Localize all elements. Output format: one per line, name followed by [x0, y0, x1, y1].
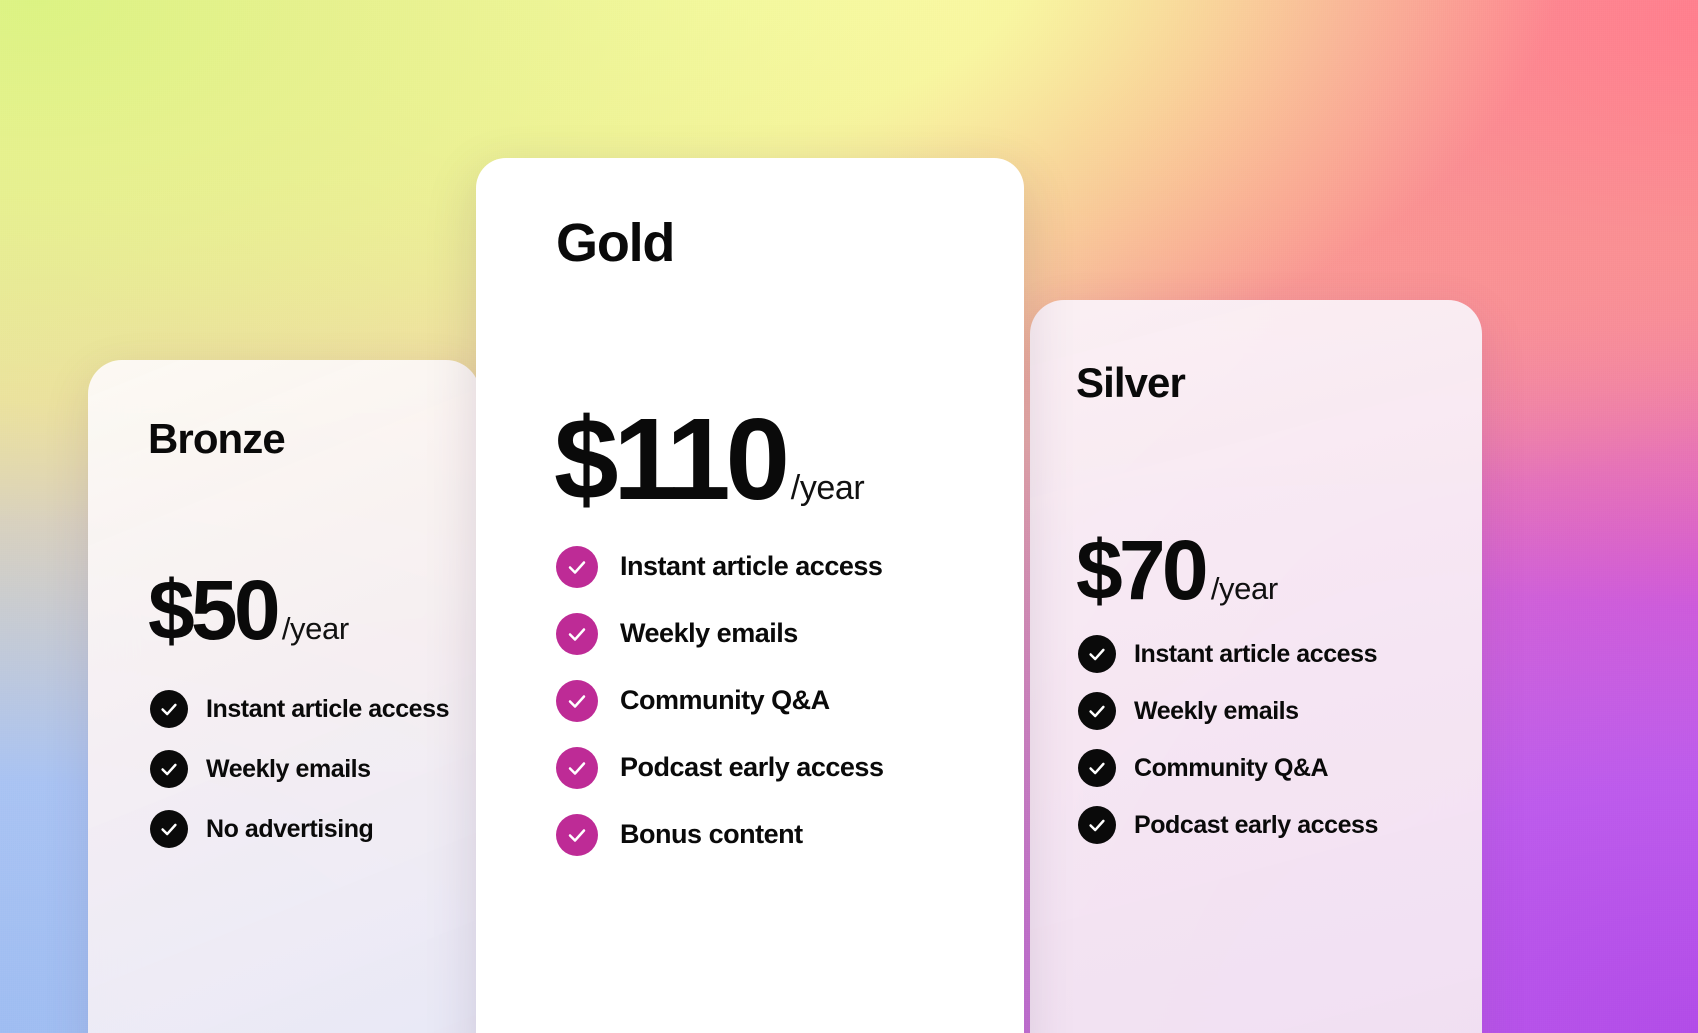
feature-list-gold: Instant article access Weekly emails Com…: [556, 546, 883, 881]
check-circle-icon: [1078, 692, 1116, 730]
feature-item: Bonus content: [556, 814, 883, 856]
check-circle-icon: [556, 613, 598, 655]
check-circle-icon: [556, 680, 598, 722]
check-circle-icon: [556, 814, 598, 856]
check-circle-icon: [556, 747, 598, 789]
feature-label: Weekly emails: [620, 618, 798, 649]
price-row-silver: $70 /year: [1076, 532, 1278, 609]
price-period-gold: /year: [791, 469, 865, 508]
feature-list-bronze: Instant article access Weekly emails No …: [150, 690, 449, 870]
feature-label: Instant article access: [206, 695, 449, 724]
pricing-card-silver[interactable]: Silver $70 /year Instant article access …: [1030, 300, 1482, 1033]
feature-item: Instant article access: [556, 546, 883, 588]
feature-item: Weekly emails: [150, 750, 449, 788]
check-circle-icon: [1078, 635, 1116, 673]
price-period-silver: /year: [1211, 571, 1278, 607]
price-row-gold: $110 /year: [554, 406, 864, 513]
price-amount-silver: $70: [1076, 532, 1205, 609]
feature-list-silver: Instant article access Weekly emails Com…: [1078, 635, 1378, 863]
plan-name-bronze: Bronze: [148, 418, 285, 460]
pricing-page: Bronze $50 /year Instant article access …: [0, 0, 1698, 1033]
feature-label: Weekly emails: [1134, 697, 1299, 726]
feature-label: Instant article access: [1134, 640, 1377, 669]
price-row-bronze: $50 /year: [148, 572, 349, 649]
feature-label: No advertising: [206, 815, 373, 844]
feature-label: Bonus content: [620, 819, 803, 850]
feature-label: Podcast early access: [1134, 811, 1378, 840]
feature-label: Podcast early access: [620, 752, 883, 783]
check-circle-icon: [1078, 806, 1116, 844]
plan-name-silver: Silver: [1076, 362, 1185, 404]
pricing-card-bronze[interactable]: Bronze $50 /year Instant article access …: [88, 360, 480, 1033]
check-circle-icon: [1078, 749, 1116, 787]
feature-item: No advertising: [150, 810, 449, 848]
check-circle-icon: [556, 546, 598, 588]
price-period-bronze: /year: [282, 611, 349, 647]
feature-label: Community Q&A: [620, 685, 830, 716]
feature-label: Weekly emails: [206, 755, 371, 784]
check-circle-icon: [150, 690, 188, 728]
check-circle-icon: [150, 810, 188, 848]
price-amount-bronze: $50: [148, 572, 277, 649]
feature-item: Community Q&A: [1078, 749, 1378, 787]
plan-name-gold: Gold: [556, 216, 674, 270]
feature-label: Community Q&A: [1134, 754, 1328, 783]
feature-item: Weekly emails: [556, 613, 883, 655]
pricing-card-gold[interactable]: Gold $110 /year Instant article access W…: [476, 158, 1024, 1033]
price-amount-gold: $110: [554, 406, 785, 513]
feature-label: Instant article access: [620, 551, 882, 582]
feature-item: Instant article access: [150, 690, 449, 728]
feature-item: Weekly emails: [1078, 692, 1378, 730]
feature-item: Community Q&A: [556, 680, 883, 722]
feature-item: Instant article access: [1078, 635, 1378, 673]
check-circle-icon: [150, 750, 188, 788]
feature-item: Podcast early access: [1078, 806, 1378, 844]
feature-item: Podcast early access: [556, 747, 883, 789]
